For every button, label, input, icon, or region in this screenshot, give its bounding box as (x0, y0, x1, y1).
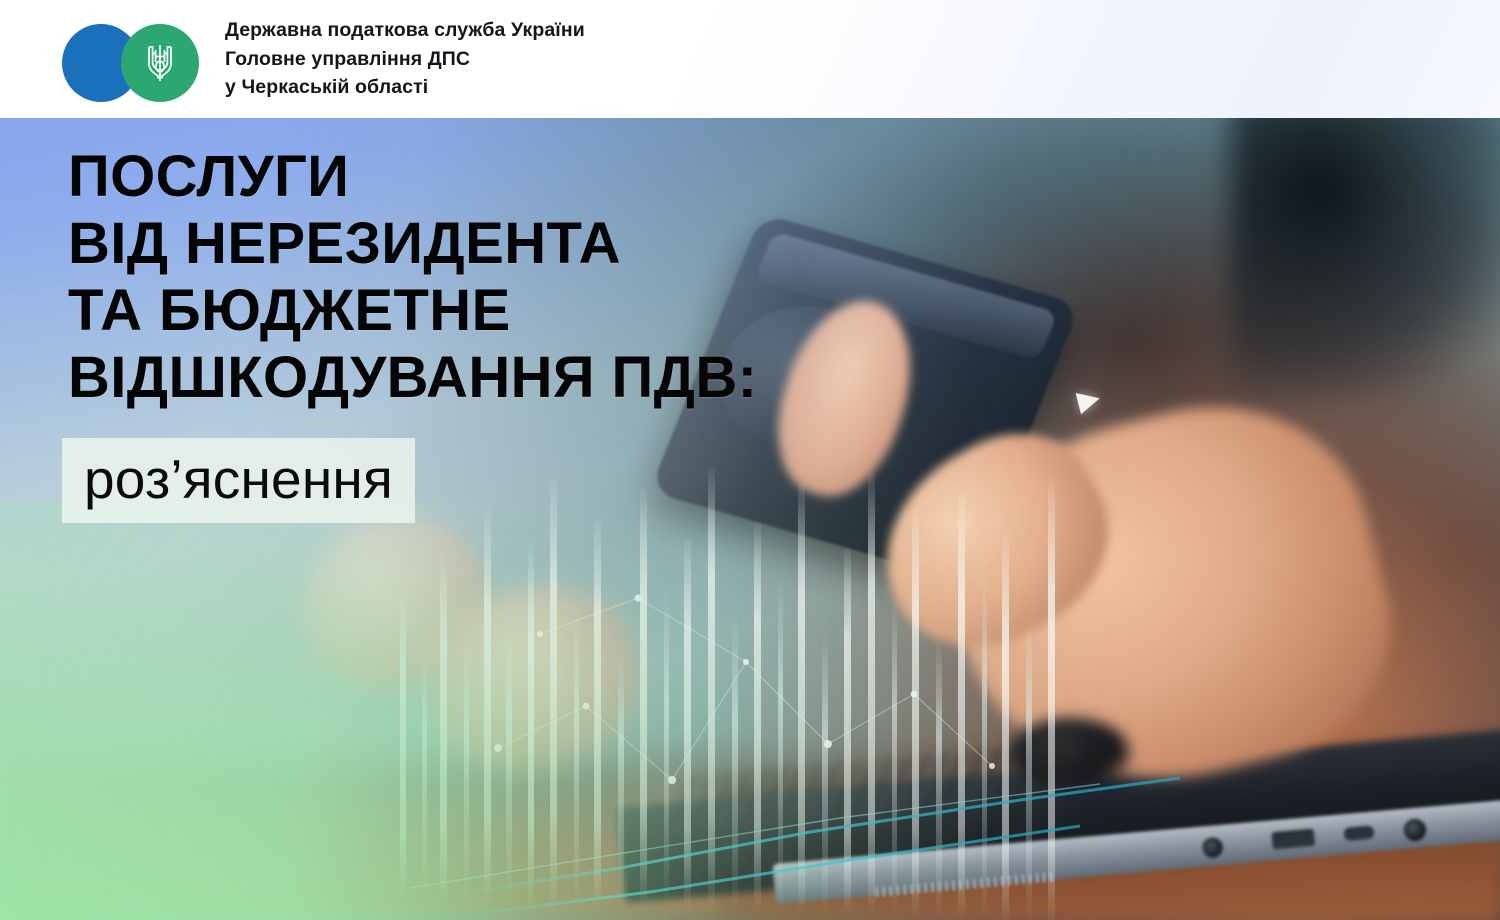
hero-title-line-1: ПОСЛУГИ (68, 144, 868, 211)
site-header: Державна податкова служба України Головн… (0, 0, 1500, 118)
organisation-titles: Державна податкова служба України Головн… (225, 17, 585, 101)
org-name-region: у Черкаській області (225, 74, 585, 101)
gradient-overlay-bottom (0, 500, 760, 920)
hero-title-line-3: ТА БЮДЖЕТНЕ (68, 278, 868, 345)
hero-subtitle-highlight: роз’яснення (62, 438, 415, 523)
org-name-primary: Державна податкова служба України (225, 17, 585, 44)
hero-title-block: ПОСЛУГИ ВІД НЕРЕЗИДЕНТА ТА БЮДЖЕТНЕ ВІДШ… (68, 144, 868, 523)
hero-title-line-4: ВІДШКОДУВАННЯ ПДВ: (68, 345, 868, 412)
ukraine-trident-icon (144, 42, 176, 84)
dps-logo[interactable] (62, 19, 217, 99)
hero-subtitle: роз’яснення (84, 452, 393, 507)
hero-title-line-2: ВІД НЕРЕЗИДЕНТА (68, 211, 868, 278)
org-name-department: Головне управління ДПС (225, 46, 585, 73)
tax-service-announcement-banner: Державна податкова служба України Головн… (0, 0, 1500, 920)
logo-green-circle-icon (121, 24, 199, 102)
